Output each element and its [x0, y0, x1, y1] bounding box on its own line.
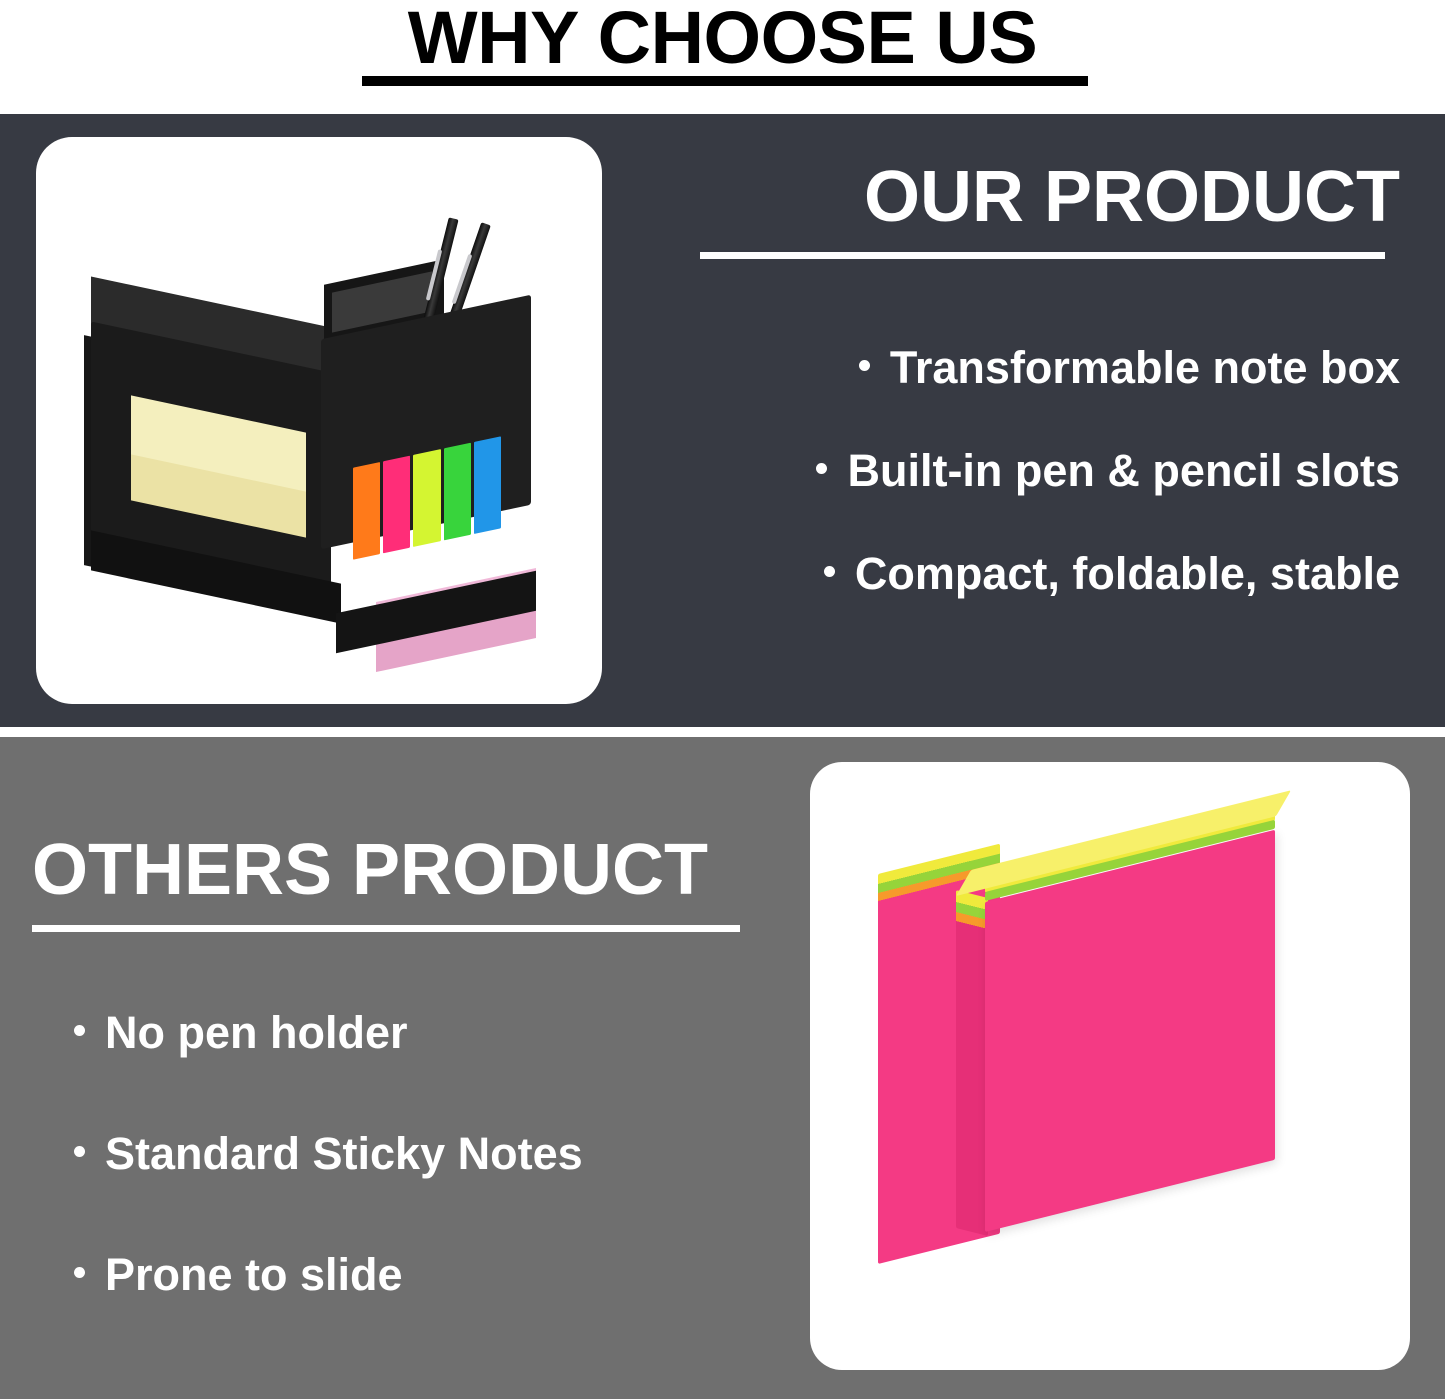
folding-desk-organizer-photo — [36, 137, 602, 704]
our-product-heading-underline — [700, 252, 1385, 259]
our-product-heading: OUR PRODUCT — [700, 154, 1400, 240]
list-item: Built-in pen & pencil slots — [700, 440, 1400, 499]
our-product-image-card — [36, 137, 602, 704]
others-product-image-card — [810, 762, 1410, 1370]
bullet-dot-icon — [74, 1267, 85, 1278]
list-item: Transformable note box — [700, 337, 1400, 396]
flag-yellow — [413, 449, 440, 547]
list-item: Prone to slide — [32, 1244, 752, 1303]
our-product-bullet-list: Transformable note box Built-in pen & pe… — [700, 337, 1400, 602]
our-product-panel: OUR PRODUCT Transformable note box Built… — [0, 114, 1445, 727]
others-product-heading-underline — [32, 925, 740, 932]
bullet-dot-icon — [824, 566, 835, 577]
list-item-label: Built-in pen & pencil slots — [847, 445, 1400, 496]
list-item-label: Compact, foldable, stable — [855, 548, 1400, 599]
page-title-underline — [362, 76, 1088, 86]
others-product-panel: OTHERS PRODUCT No pen holder Standard St… — [0, 737, 1445, 1399]
list-item-label: No pen holder — [105, 1007, 408, 1058]
others-product-heading: OTHERS PRODUCT — [32, 827, 752, 913]
bullet-dot-icon — [859, 360, 870, 371]
list-item: No pen holder — [32, 1002, 752, 1061]
front-note-pad-side — [956, 890, 988, 1236]
flag-pink — [383, 456, 410, 554]
others-product-text-block: OTHERS PRODUCT No pen holder Standard St… — [32, 827, 752, 1303]
list-item: Standard Sticky Notes — [32, 1123, 752, 1182]
flag-blue — [474, 436, 501, 534]
list-item-label: Prone to slide — [105, 1249, 403, 1300]
bullet-dot-icon — [74, 1025, 85, 1036]
flag-orange — [353, 462, 380, 560]
others-product-bullet-list: No pen holder Standard Sticky Notes Pron… — [32, 1002, 752, 1303]
page-header: WHY CHOOSE US — [0, 0, 1445, 114]
bullet-dot-icon — [816, 463, 827, 474]
list-item-label: Standard Sticky Notes — [105, 1128, 583, 1179]
plain-sticky-note-pads-photo — [810, 762, 1410, 1370]
list-item: Compact, foldable, stable — [700, 543, 1400, 602]
list-item-label: Transformable note box — [890, 342, 1400, 393]
bullet-dot-icon — [74, 1146, 85, 1157]
our-product-text-block: OUR PRODUCT Transformable note box Built… — [700, 154, 1400, 602]
flag-green — [444, 443, 471, 541]
page-title: WHY CHOOSE US — [0, 0, 1445, 84]
